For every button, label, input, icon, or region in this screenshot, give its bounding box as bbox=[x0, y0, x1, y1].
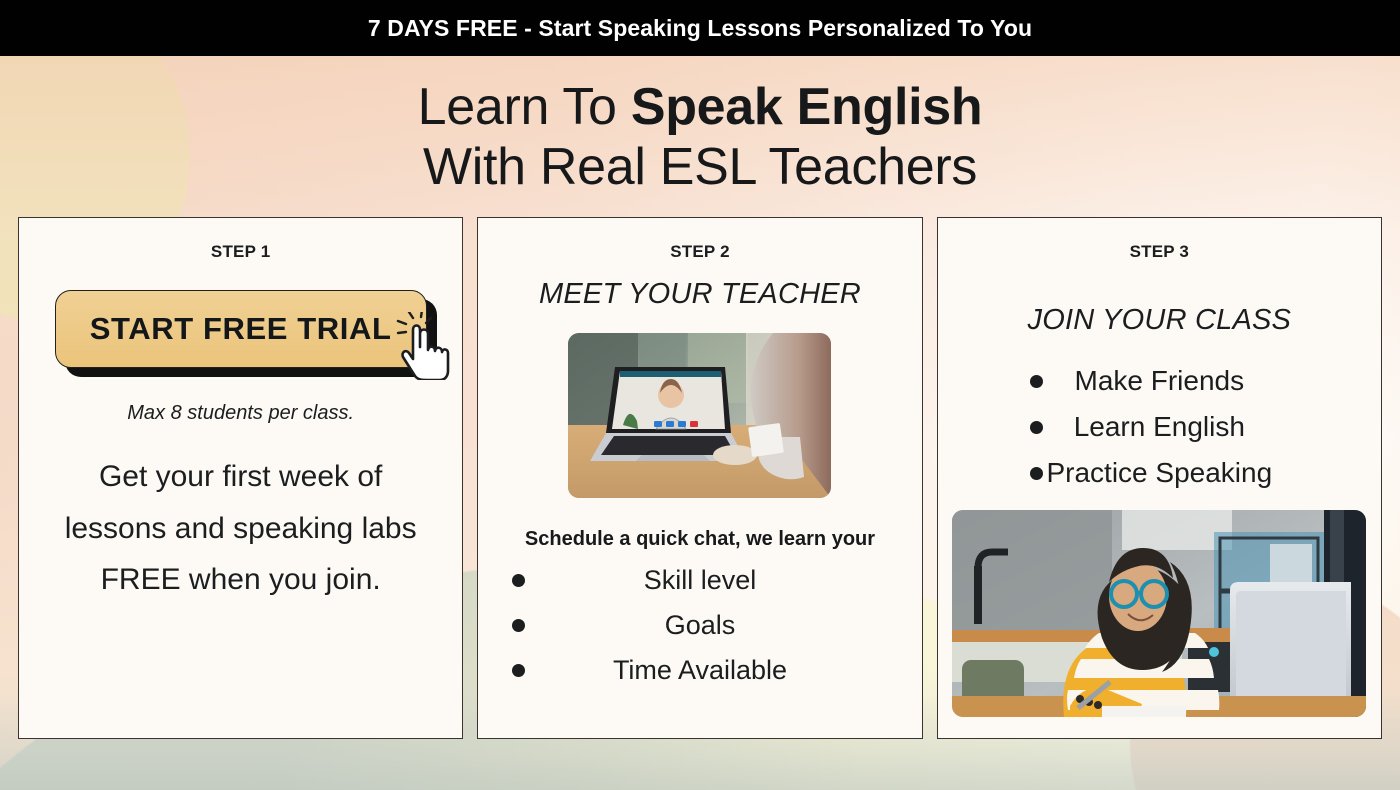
step-3-bullet-list: Make Friends Learn English Practice Spea… bbox=[938, 365, 1381, 489]
top-promo-banner[interactable]: 7 DAYS FREE - Start Speaking Lessons Per… bbox=[0, 0, 1400, 56]
step-2-bullet-list: Skill level Goals Time Available bbox=[478, 565, 921, 686]
start-free-trial-label: START FREE TRIAL bbox=[90, 311, 392, 347]
step-2-card: STEP 2 MEET YOUR TEACHER bbox=[477, 217, 922, 739]
step-2-label: STEP 2 bbox=[478, 242, 921, 262]
bullet-label: Practice Speaking bbox=[1043, 457, 1381, 489]
steps-row: STEP 1 START FREE TRIAL M bbox=[18, 217, 1382, 739]
start-free-trial-button[interactable]: START FREE TRIAL bbox=[55, 290, 427, 368]
bullet-label: Make Friends bbox=[1043, 365, 1381, 397]
headline-line-1: Learn To Speak English bbox=[0, 78, 1400, 136]
page-title: Learn To Speak English With Real ESL Tea… bbox=[0, 78, 1400, 196]
bullet-dot-icon bbox=[512, 574, 525, 587]
step-3-card: STEP 3 JOIN YOUR CLASS Make Friends Lear… bbox=[937, 217, 1382, 739]
headline-line-2: With Real ESL Teachers bbox=[0, 138, 1400, 196]
start-free-trial-wrap: START FREE TRIAL bbox=[55, 290, 427, 368]
video-call-on-laptop-photo bbox=[568, 333, 831, 498]
step-3-label: STEP 3 bbox=[938, 242, 1381, 262]
step-1-label: STEP 1 bbox=[19, 242, 462, 262]
list-item: Goals bbox=[478, 610, 921, 641]
list-item: Learn English bbox=[938, 411, 1381, 443]
bullet-label: Goals bbox=[525, 610, 921, 641]
bullet-dot-icon bbox=[512, 664, 525, 677]
list-item: Skill level bbox=[478, 565, 921, 596]
headline-bold: Speak English bbox=[631, 78, 983, 136]
bullet-label: Time Available bbox=[525, 655, 921, 686]
bullet-label: Learn English bbox=[1043, 411, 1381, 443]
list-item: Make Friends bbox=[938, 365, 1381, 397]
step-1-sub-note: Max 8 students per class. bbox=[19, 402, 462, 425]
bullet-dot-icon bbox=[1030, 467, 1043, 480]
list-item: Practice Speaking bbox=[938, 457, 1381, 489]
step-2-heading: MEET YOUR TEACHER bbox=[478, 278, 921, 311]
student-writing-with-laptop-photo bbox=[952, 510, 1366, 717]
bullet-dot-icon bbox=[1030, 375, 1043, 388]
banner-text: 7 DAYS FREE - Start Speaking Lessons Per… bbox=[368, 15, 1032, 42]
step-2-list-title: Schedule a quick chat, we learn your bbox=[478, 528, 921, 551]
step-3-heading: JOIN YOUR CLASS bbox=[938, 304, 1381, 337]
bullet-dot-icon bbox=[512, 619, 525, 632]
list-item: Time Available bbox=[478, 655, 921, 686]
step-1-card: STEP 1 START FREE TRIAL M bbox=[18, 217, 463, 739]
headline-regular: Learn To bbox=[418, 78, 631, 136]
promo-page: 7 DAYS FREE - Start Speaking Lessons Per… bbox=[0, 0, 1400, 790]
bullet-dot-icon bbox=[1030, 421, 1043, 434]
step-1-body-copy: Get your first week of lessons and speak… bbox=[56, 451, 426, 606]
bullet-label: Skill level bbox=[525, 565, 921, 596]
